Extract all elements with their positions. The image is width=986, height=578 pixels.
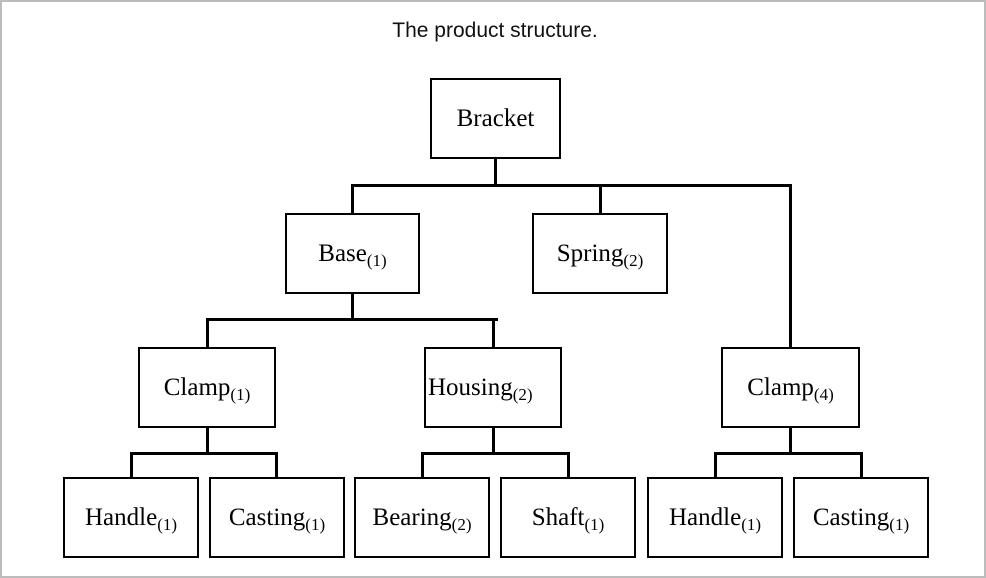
node-name-housing: Housing xyxy=(428,375,513,400)
node-name-shaft: Shaft xyxy=(532,505,585,530)
connector-housing-bus xyxy=(422,452,568,455)
node-name-casting-a: Casting xyxy=(229,505,305,530)
node-handle-b[interactable]: Handle(1) xyxy=(647,477,783,558)
node-label-casting-a: Casting(1) xyxy=(211,479,343,556)
connector-clamp-b-to-casting xyxy=(860,452,863,477)
node-label-shaft: Shaft(1) xyxy=(502,479,634,556)
node-base[interactable]: Base(1) xyxy=(285,213,420,294)
connector-clamp-b-to-handle xyxy=(714,452,717,477)
connector-base-bus xyxy=(207,318,498,321)
node-label-clamp-b: Clamp(4) xyxy=(723,349,858,426)
connector-base-to-housing xyxy=(492,318,495,347)
connector-clamp-a-stem xyxy=(206,428,209,453)
connector-housing-to-bearing xyxy=(421,452,424,477)
connector-clamp-b-stem xyxy=(789,428,792,453)
node-quantity-casting-b: (1) xyxy=(889,516,909,533)
connector-clamp-b-bus xyxy=(715,452,861,455)
node-quantity-handle-b: (1) xyxy=(741,516,761,533)
node-label-casting-b: Casting(1) xyxy=(795,479,927,556)
node-label-base: Base(1) xyxy=(287,215,418,292)
node-name-base: Base xyxy=(318,241,367,266)
node-label-bracket: Bracket xyxy=(432,80,559,157)
node-quantity-clamp-b: (4) xyxy=(814,386,834,403)
node-quantity-housing: (2) xyxy=(513,386,533,403)
node-label-handle-b: Handle(1) xyxy=(649,479,781,556)
node-spring[interactable]: Spring(2) xyxy=(532,213,668,294)
node-quantity-base: (1) xyxy=(367,252,387,269)
node-name-spring: Spring xyxy=(557,241,624,266)
node-name-handle-a: Handle xyxy=(85,505,157,530)
connector-housing-to-shaft xyxy=(567,452,570,477)
connector-clamp-a-to-handle xyxy=(130,452,133,477)
connector-bracket-stem xyxy=(494,159,497,186)
node-label-clamp-a: Clamp(1) xyxy=(140,349,274,426)
connector-base-stem xyxy=(351,294,354,319)
node-quantity-casting-a: (1) xyxy=(305,516,325,533)
node-clamp-b[interactable]: Clamp(4) xyxy=(721,347,860,428)
node-quantity-shaft: (1) xyxy=(584,516,604,533)
page-title: The product structure. xyxy=(2,19,986,43)
connector-bracket-to-spring xyxy=(599,184,602,213)
node-name-bearing: Bearing xyxy=(373,505,452,530)
node-name-casting-b: Casting xyxy=(813,505,889,530)
node-label-housing: Housing(2) xyxy=(426,349,562,426)
connector-bracket-to-base xyxy=(351,184,354,213)
node-shaft[interactable]: Shaft(1) xyxy=(500,477,636,558)
node-casting-b[interactable]: Casting(1) xyxy=(793,477,929,558)
node-quantity-clamp-a: (1) xyxy=(230,386,250,403)
connector-base-to-clamp-a xyxy=(206,318,209,347)
node-name-clamp-a: Clamp xyxy=(164,375,231,400)
node-casting-a[interactable]: Casting(1) xyxy=(209,477,345,558)
diagram-canvas: The product structure. BracketBase(1)Spr… xyxy=(0,0,986,578)
node-quantity-spring: (2) xyxy=(623,252,643,269)
connector-bracket-bus xyxy=(352,184,790,187)
node-quantity-handle-a: (1) xyxy=(157,516,177,533)
node-label-spring: Spring(2) xyxy=(534,215,666,292)
node-name-handle-b: Handle xyxy=(669,505,741,530)
node-bearing[interactable]: Bearing(2) xyxy=(354,477,490,558)
node-label-bearing: Bearing(2) xyxy=(356,479,488,556)
node-bracket[interactable]: Bracket xyxy=(430,78,561,159)
node-clamp-a[interactable]: Clamp(1) xyxy=(138,347,276,428)
connector-clamp-a-to-casting xyxy=(275,452,278,477)
connector-housing-stem xyxy=(492,428,495,453)
node-quantity-bearing: (2) xyxy=(452,516,472,533)
node-name-bracket: Bracket xyxy=(457,106,535,131)
node-housing[interactable]: Housing(2) xyxy=(424,347,562,428)
node-handle-a[interactable]: Handle(1) xyxy=(63,477,199,558)
node-label-handle-a: Handle(1) xyxy=(65,479,197,556)
connector-clamp-a-bus xyxy=(131,452,278,455)
node-name-clamp-b: Clamp xyxy=(747,375,814,400)
connector-bracket-to-clamp-b xyxy=(789,184,792,347)
